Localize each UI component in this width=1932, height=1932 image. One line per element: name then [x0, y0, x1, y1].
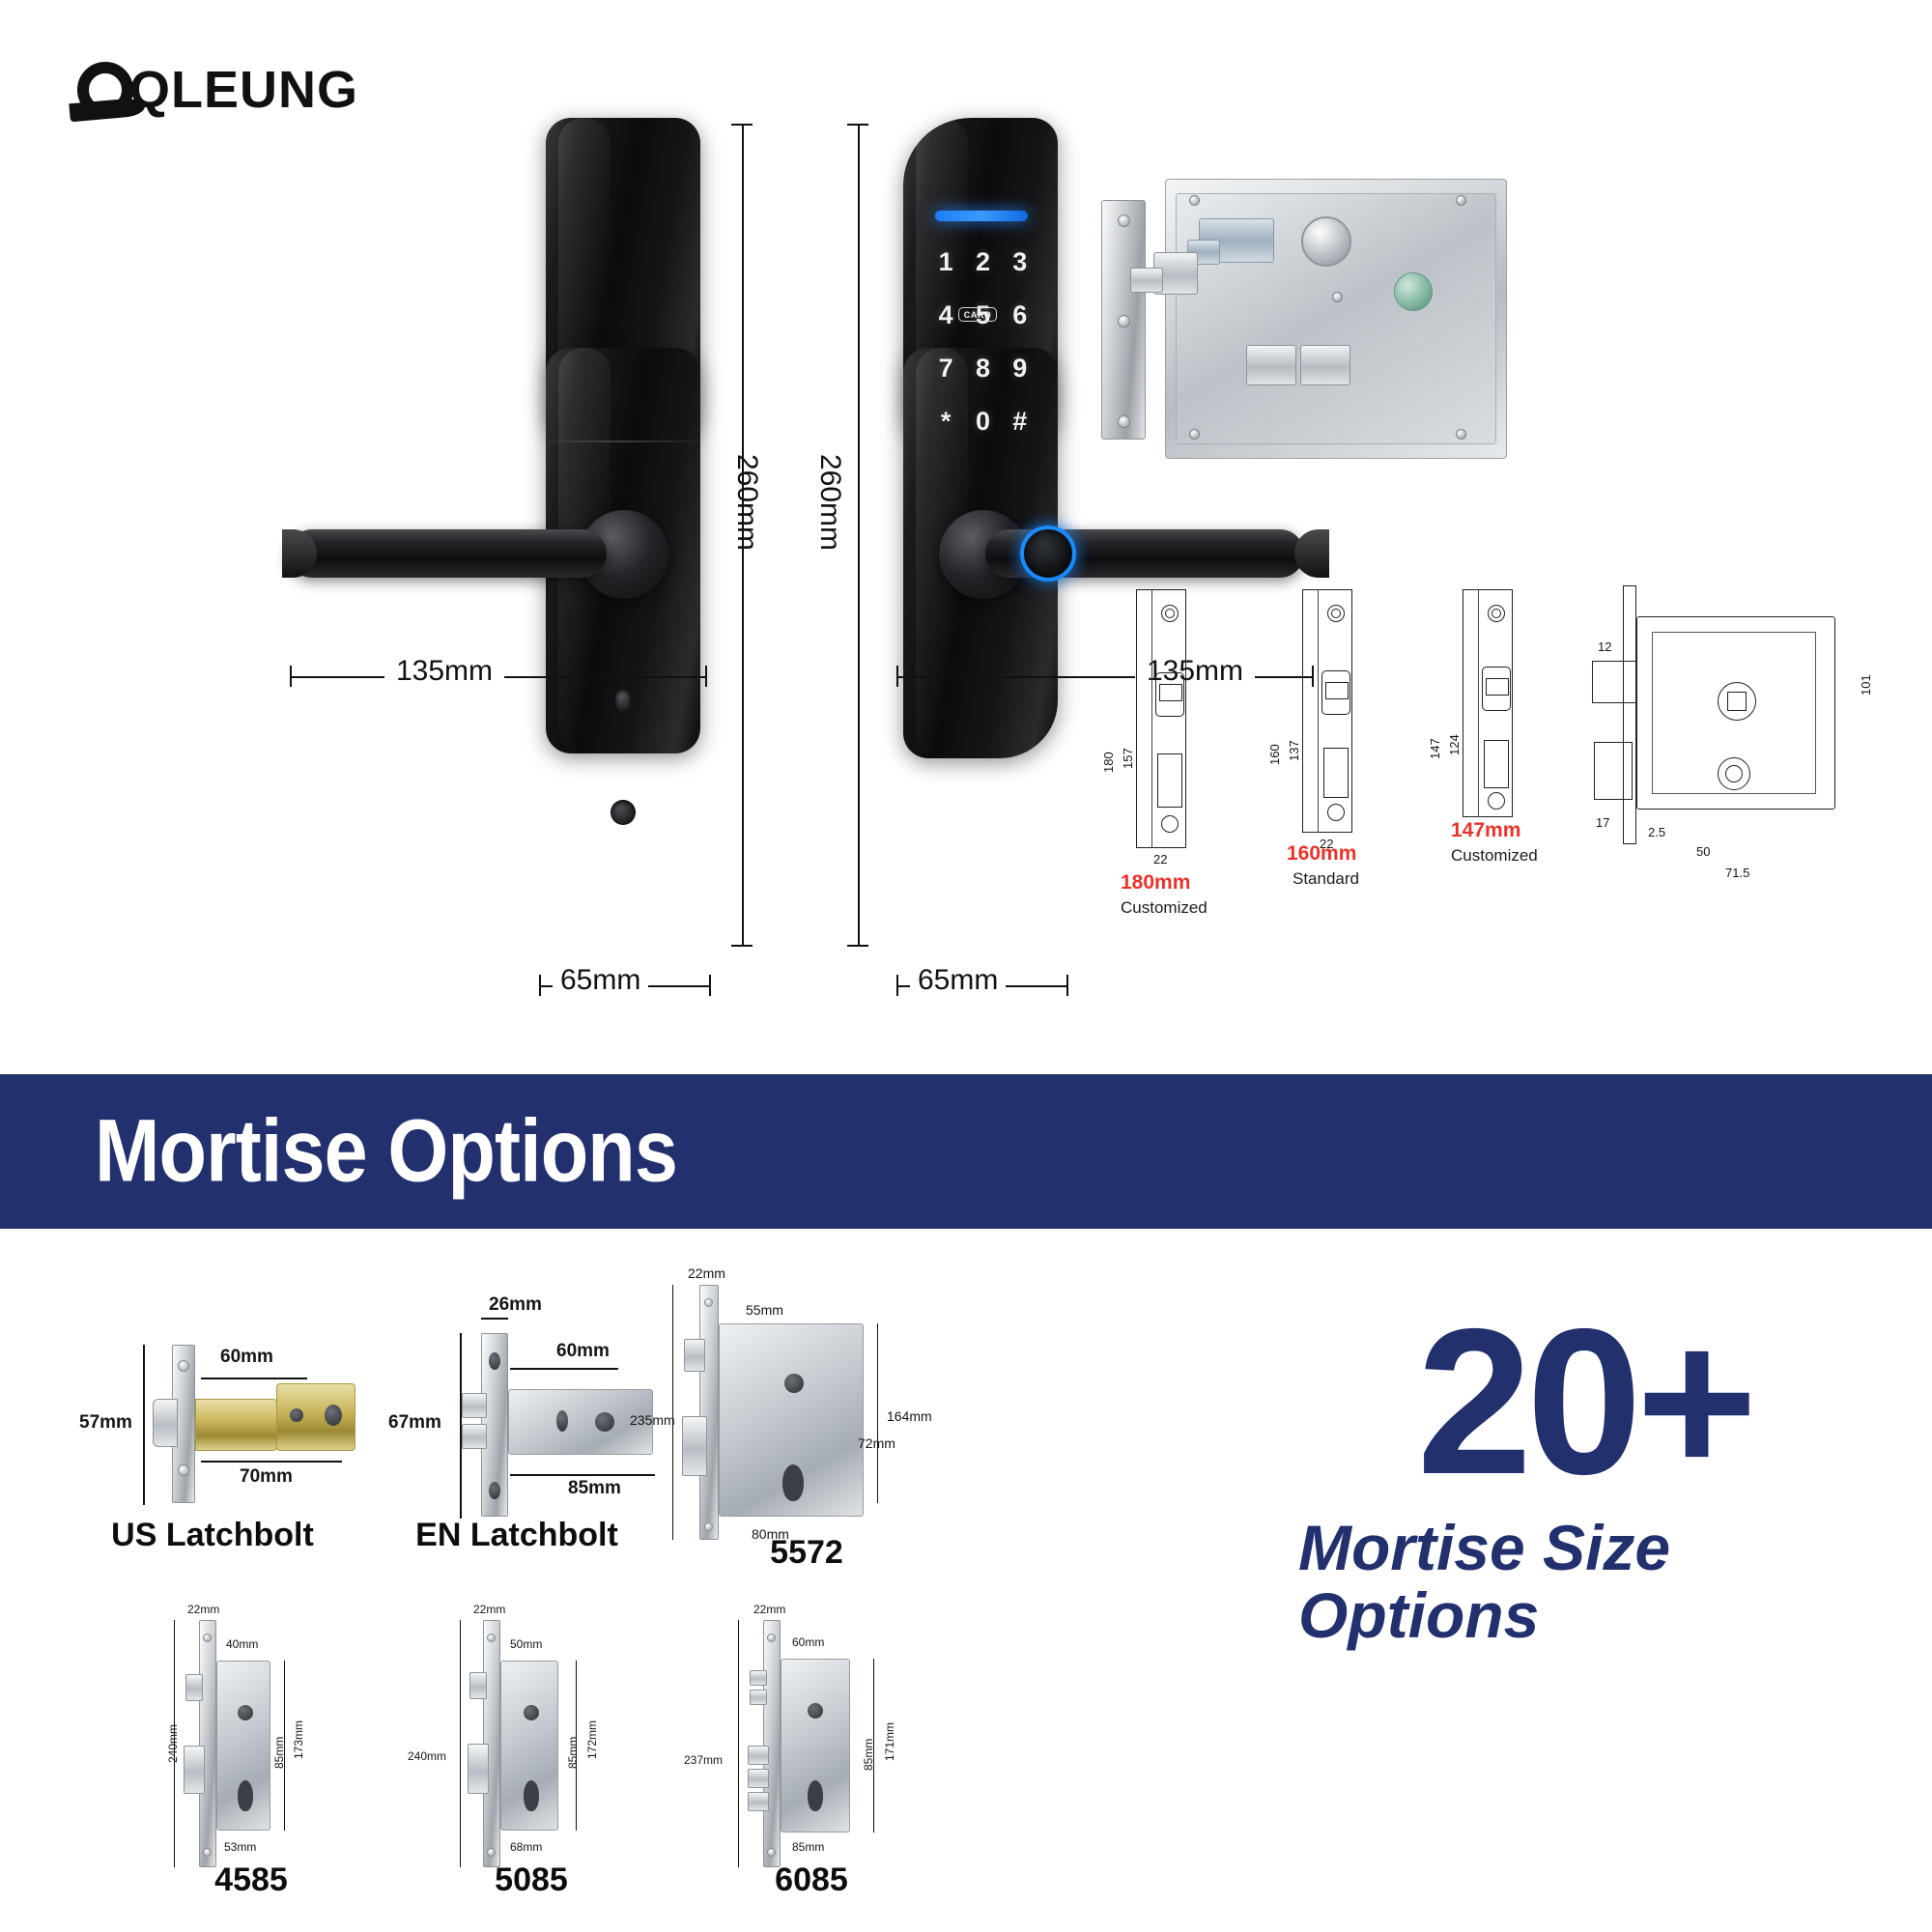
m5572-name: 5572 [638, 1534, 976, 1572]
m6085-dim-171mm: 171mm [883, 1722, 896, 1761]
m4585-dim-22mm: 22mm [187, 1603, 219, 1616]
mortise-deadbolt-1 [1246, 345, 1296, 385]
card-reader-badge: CARD [958, 307, 997, 322]
en-latch-dim-67mm: 67mm [388, 1412, 441, 1434]
option-mortise-5085: 22mm 50mm 240mm 172mm 85mm 68mm 5085 [386, 1599, 676, 1898]
option-us-latchbolt: 57mm 60mm 70mm US Latchbolt [58, 1285, 367, 1575]
m6085-deadbolt-1 [748, 1746, 769, 1765]
m5572-dim-22mm: 22mm [688, 1265, 725, 1281]
body-dim-2-5: 2.5 [1648, 825, 1665, 839]
highlight-count: 20+ [1285, 1306, 1884, 1497]
option-mortise-5572: 22mm 55mm 235mm 164mm 72mm 80mm 5572 [638, 1256, 976, 1575]
keypad-key-6[interactable]: 6 [1002, 302, 1038, 328]
m5572-deadbolt [682, 1416, 707, 1476]
us-latch-barrel [195, 1399, 280, 1451]
option-en-latchbolt: 26mm 67mm 60mm 85mm EN Latchbolt [357, 1275, 676, 1575]
interior-keyhole [615, 688, 631, 713]
q-swoosh-logo-icon [77, 62, 133, 118]
option-mortise-6085: 22mm 60mm 237mm 171mm 85mm 85mm 6085 [667, 1599, 956, 1898]
mortise-cam-wheel [1394, 272, 1433, 311]
faceplate-size-label-180: 180mm [1121, 871, 1190, 895]
faceplate-outer-dim-147: 147 [1428, 738, 1442, 759]
dim-tick [847, 945, 868, 947]
dim-tick [709, 975, 711, 996]
m5085-latch [469, 1672, 487, 1699]
keypad-key-hash[interactable]: # [1002, 409, 1038, 435]
dim-tick [731, 945, 753, 947]
m5572-dim-164mm: 164mm [887, 1408, 932, 1424]
body-dim-12: 12 [1598, 639, 1611, 654]
faceplate-inner-dim-157: 157 [1121, 748, 1135, 769]
mortise-options-banner: Mortise Options [0, 1074, 1932, 1229]
keypad-key-3[interactable]: 3 [1002, 249, 1038, 275]
faceplate-inner-dim-137: 137 [1287, 740, 1301, 761]
m5085-dim-50mm: 50mm [510, 1637, 542, 1651]
us-latch-bolt-tip [153, 1399, 178, 1447]
keypad-key-8[interactable]: 8 [964, 355, 1001, 382]
m4585-dim-240mm: 240mm [166, 1724, 180, 1763]
m6085-deadbolt-3 [748, 1792, 769, 1811]
faceplate-size-label-147: 147mm [1451, 819, 1520, 842]
m6085-latch-b [750, 1690, 767, 1705]
dim-label-right-depth: 65mm [910, 964, 1006, 997]
dim-tick [705, 666, 707, 687]
keypad-key-9[interactable]: 9 [1002, 355, 1038, 382]
m5572-faceplate [699, 1285, 719, 1540]
us-latch-housing [276, 1383, 355, 1451]
us-latch-dim-70mm: 70mm [240, 1466, 293, 1488]
dim-tick [896, 975, 898, 996]
dim-tick [539, 975, 541, 996]
m5572-latch [684, 1339, 705, 1372]
mortise-deadbolt-2 [1300, 345, 1350, 385]
mortise-lock-photo [1101, 179, 1507, 459]
dim-label-left-height: 260mm [730, 454, 763, 551]
brand-logo: QLEUNG [77, 60, 358, 120]
en-latch-dim-26mm: 26mm [489, 1294, 542, 1316]
body-dim-71-5: 71.5 [1725, 866, 1749, 880]
brand-name: QLEUNG [129, 60, 358, 120]
m6085-deadbolt-2 [748, 1769, 769, 1788]
m6085-dim-22mm: 22mm [753, 1603, 785, 1616]
m5572-dim-55mm: 55mm [746, 1302, 783, 1318]
dim-tick [896, 666, 898, 687]
faceplate-inner-dim-124: 124 [1447, 734, 1462, 755]
dim-tick [731, 124, 753, 126]
dim-line-right-height [858, 124, 860, 947]
faceplate-outer-dim-180: 180 [1101, 752, 1116, 773]
option-mortise-4585: 22mm 40mm 240mm 173mm 85mm 53mm 4585 [106, 1599, 396, 1898]
m5085-dim-172mm: 172mm [585, 1720, 599, 1759]
m4585-latch [185, 1674, 203, 1701]
dim-label-left-depth: 65mm [553, 964, 648, 997]
m4585-deadbolt [184, 1746, 205, 1794]
keypad[interactable]: 1 2 3 4 5 6 7 8 9 * 0 # [927, 249, 1038, 435]
dim-label-right-height: 260mm [813, 454, 846, 551]
keypad-key-7[interactable]: 7 [927, 355, 964, 382]
body-dim-101: 101 [1859, 674, 1873, 696]
m6085-name: 6085 [667, 1861, 956, 1899]
led-indicator-strip [935, 211, 1028, 221]
interior-port [611, 800, 636, 825]
en-latch-bolt-lower [462, 1424, 487, 1449]
us-latch-name: US Latchbolt [58, 1517, 367, 1554]
dim-tick [847, 124, 868, 126]
faceplate-size-label-160: 160mm [1287, 842, 1356, 866]
product-spec-page: QLEUNG 260mm 135mm 65mm 1 2 3 4 [0, 0, 1932, 1932]
dim-tick [290, 666, 292, 687]
m4585-dim-173mm: 173mm [292, 1720, 305, 1759]
dim-tick [1066, 975, 1068, 996]
m5572-dim-235mm: 235mm [630, 1412, 675, 1428]
m6085-dim-237mm: 237mm [684, 1753, 723, 1767]
m4585-dim-53mm: 53mm [224, 1840, 256, 1854]
us-latch-dim-57mm: 57mm [79, 1412, 132, 1434]
m4585-faceplate [199, 1620, 216, 1867]
m6085-dim-85mm-h: 85mm [792, 1840, 824, 1854]
mortise-cylinder-hole [1301, 216, 1351, 267]
keypad-key-1[interactable]: 1 [927, 249, 964, 275]
faceplate-type-label-147: Customized [1451, 846, 1538, 866]
banner-title: Mortise Options [95, 1101, 677, 1203]
m5085-dim-85mm: 85mm [566, 1737, 580, 1769]
m4585-dim-40mm: 40mm [226, 1637, 258, 1651]
highlight-line2: Options [1285, 1582, 1884, 1650]
body-dim-17: 17 [1596, 815, 1609, 830]
mortise-faceplate [1101, 200, 1146, 440]
body-faceplate-drawing [1623, 585, 1636, 844]
technical-line-drawings: 180 157 22 180mm Customized 160 137 22 1… [1080, 580, 1911, 898]
mortise-case [1165, 179, 1507, 459]
faceplate-outer-dim-160: 160 [1267, 744, 1282, 765]
keypad-key-0[interactable]: 0 [964, 409, 1001, 435]
faceplate-type-label-180: Customized [1121, 898, 1207, 918]
m5085-deadbolt [468, 1744, 489, 1794]
en-latch-bolt-upper [462, 1393, 487, 1418]
en-latch-name: EN Latchbolt [357, 1517, 676, 1554]
m6085-latch-a [750, 1670, 767, 1686]
dim-label-left-width: 135mm [384, 655, 504, 688]
m5085-dim-22mm: 22mm [473, 1603, 505, 1616]
en-latch-dim-85mm: 85mm [568, 1478, 621, 1499]
faceplate-width-dim-22: 22 [1153, 852, 1167, 867]
us-latch-dim-60mm: 60mm [220, 1347, 273, 1368]
faceplate-type-label-160: Standard [1293, 869, 1359, 889]
mortise-latch-tip [1130, 268, 1163, 293]
m6085-dim-60mm: 60mm [792, 1635, 824, 1649]
m5085-name: 5085 [386, 1861, 676, 1899]
m4585-name: 4585 [106, 1861, 396, 1899]
highlight-20-plus: 20+ Mortise Size Options [1285, 1306, 1884, 1650]
body-dim-50: 50 [1696, 844, 1710, 859]
faceplate-drawing-180 [1136, 589, 1186, 848]
highlight-line1: Mortise Size [1285, 1515, 1884, 1582]
m5085-dim-240mm: 240mm [408, 1749, 446, 1763]
panel-seam [546, 440, 700, 442]
m5085-dim-68mm: 68mm [510, 1840, 542, 1854]
m6085-faceplate [763, 1620, 781, 1867]
fingerprint-sensor-icon[interactable] [1020, 526, 1076, 582]
en-latch-dim-60mm: 60mm [556, 1341, 610, 1362]
interior-handle-lever[interactable] [288, 529, 607, 578]
keypad-key-2[interactable]: 2 [964, 249, 1001, 275]
exterior-handle-tip [1294, 529, 1329, 578]
keypad-key-star[interactable]: * [927, 409, 964, 435]
